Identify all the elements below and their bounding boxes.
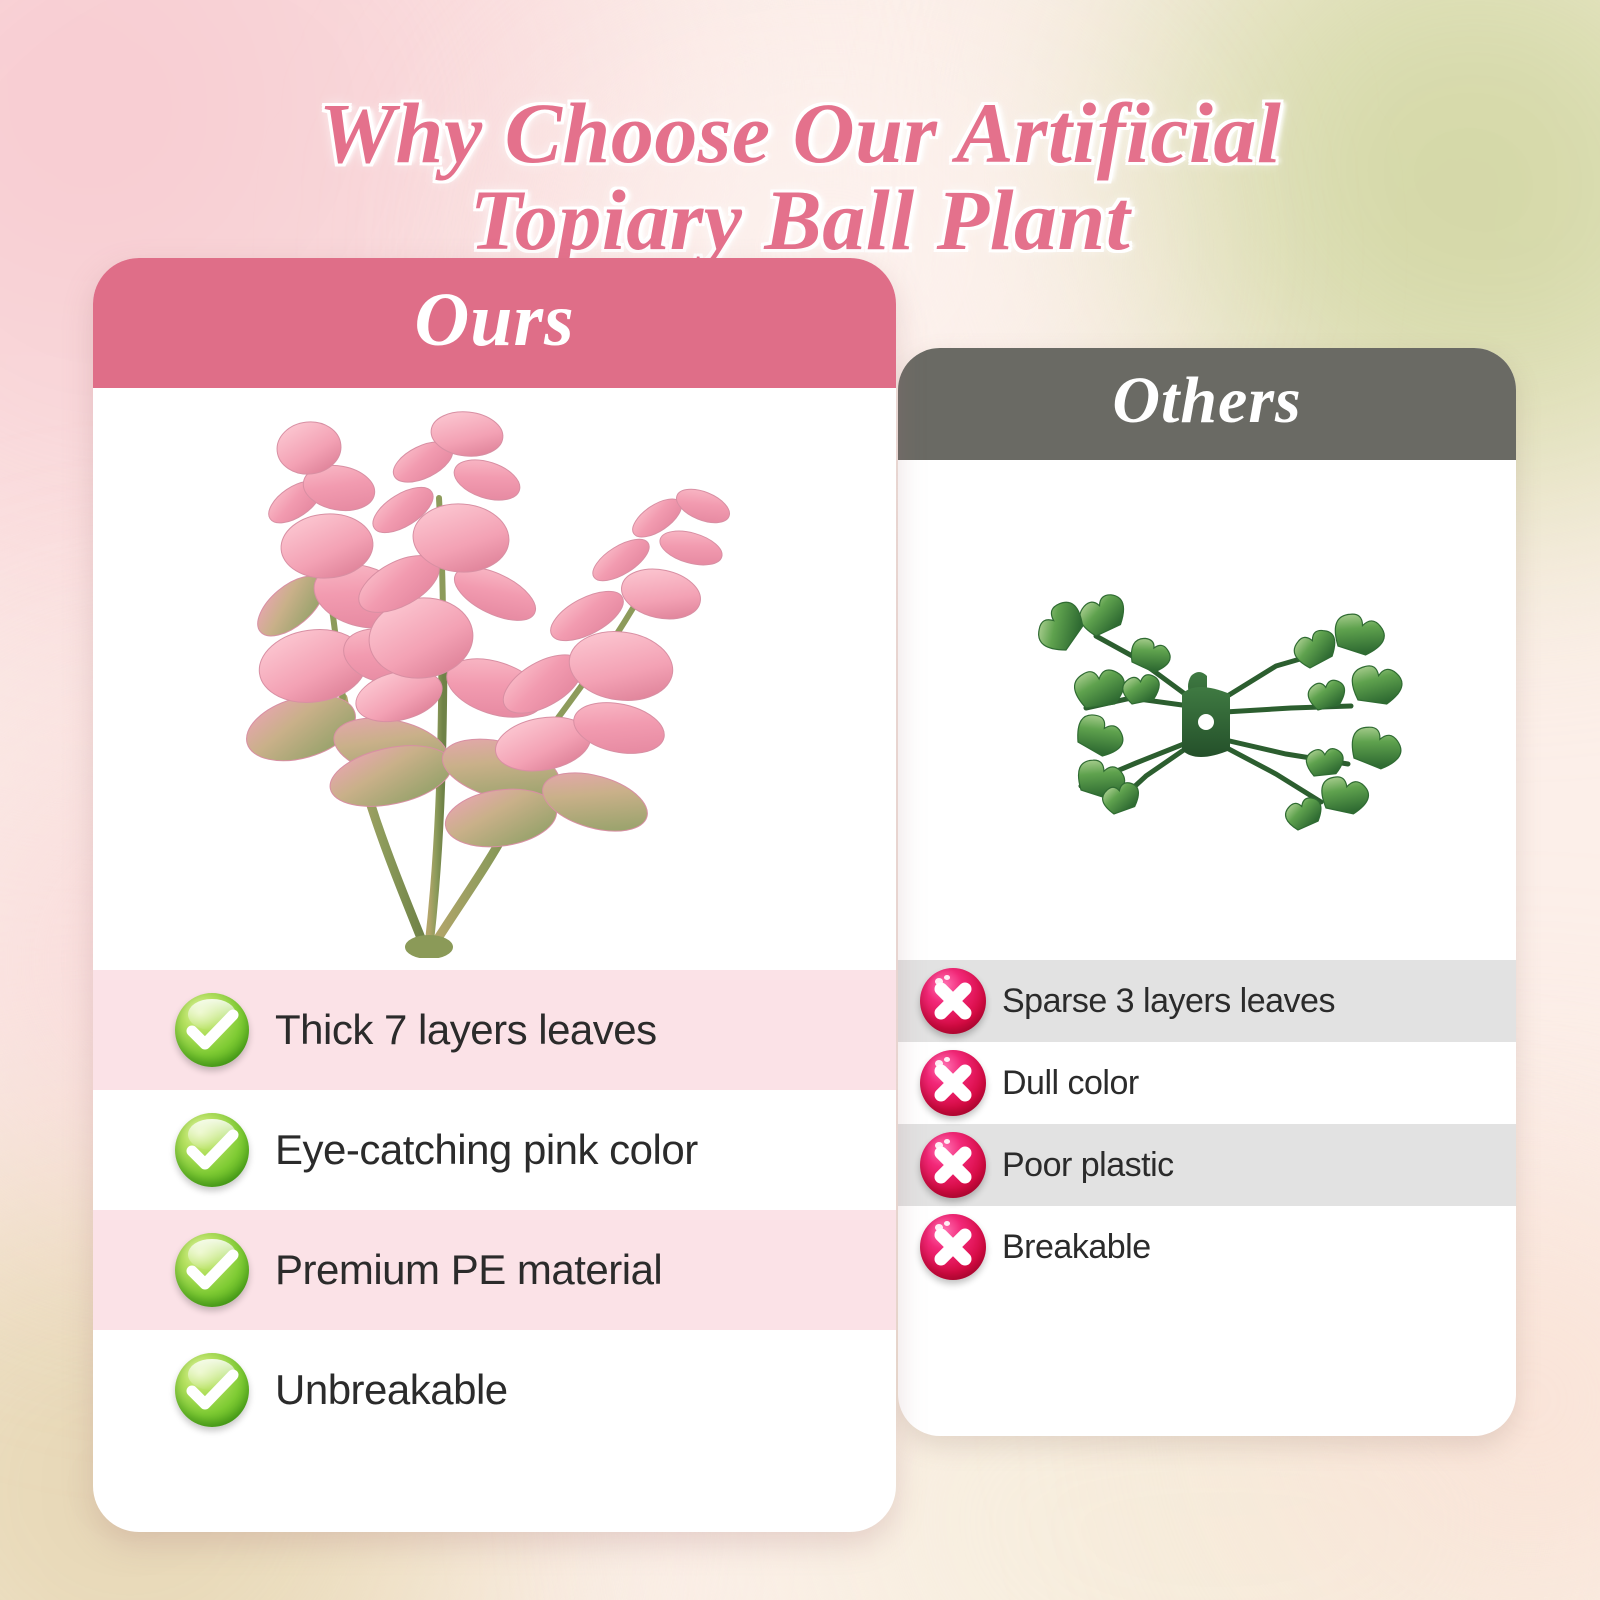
ours-feature-row: Unbreakable bbox=[93, 1330, 896, 1450]
pink-artificial-plant-illustration bbox=[243, 398, 763, 958]
others-feature-label: Breakable bbox=[1002, 1228, 1151, 1267]
ours-header-label: Ours bbox=[414, 277, 574, 364]
others-header-label: Others bbox=[1112, 363, 1301, 439]
others-feature-label: Poor plastic bbox=[1002, 1146, 1174, 1185]
others-feature-row: Dull color bbox=[898, 1042, 1516, 1124]
ours-feature-list: Thick 7 layers leavesEye-catching pink c… bbox=[93, 970, 896, 1450]
page-title-line-1: Why Choose Our Artificial bbox=[0, 90, 1600, 178]
check-icon bbox=[175, 1353, 249, 1427]
others-feature-row: Sparse 3 layers leaves bbox=[898, 960, 1516, 1042]
cross-icon bbox=[920, 968, 986, 1034]
cross-icon bbox=[920, 1214, 986, 1280]
ours-feature-label: Unbreakable bbox=[275, 1366, 508, 1414]
ours-feature-label: Eye-catching pink color bbox=[275, 1126, 698, 1174]
ours-product-photo bbox=[93, 388, 896, 970]
others-feature-list: Sparse 3 layers leavesDull colorPoor pla… bbox=[898, 960, 1516, 1288]
page-title-line-2: Topiary Ball Plant bbox=[0, 177, 1600, 265]
others-feature-label: Dull color bbox=[1002, 1064, 1139, 1103]
ours-feature-row: Premium PE material bbox=[93, 1210, 896, 1330]
others-card-header: Others bbox=[898, 348, 1516, 460]
others-card: Others bbox=[898, 348, 1516, 1436]
others-product-photo bbox=[898, 460, 1516, 960]
check-icon bbox=[175, 1233, 249, 1307]
cross-icon bbox=[920, 1050, 986, 1116]
check-icon bbox=[175, 1113, 249, 1187]
ours-card: Ours bbox=[93, 258, 896, 1532]
check-icon bbox=[175, 993, 249, 1067]
green-plastic-plant-illustration bbox=[946, 558, 1466, 888]
page-title: Why Choose Our Artificial Topiary Ball P… bbox=[0, 90, 1600, 265]
others-feature-row: Breakable bbox=[898, 1206, 1516, 1288]
cross-icon bbox=[920, 1132, 986, 1198]
ours-feature-label: Premium PE material bbox=[275, 1246, 662, 1294]
others-feature-label: Sparse 3 layers leaves bbox=[1002, 982, 1335, 1021]
ours-feature-row: Thick 7 layers leaves bbox=[93, 970, 896, 1090]
others-feature-row: Poor plastic bbox=[898, 1124, 1516, 1206]
ours-feature-row: Eye-catching pink color bbox=[93, 1090, 896, 1210]
ours-feature-label: Thick 7 layers leaves bbox=[275, 1006, 657, 1054]
ours-card-header: Ours bbox=[93, 258, 896, 388]
infographic-canvas: Why Choose Our Artificial Topiary Ball P… bbox=[0, 0, 1600, 1600]
